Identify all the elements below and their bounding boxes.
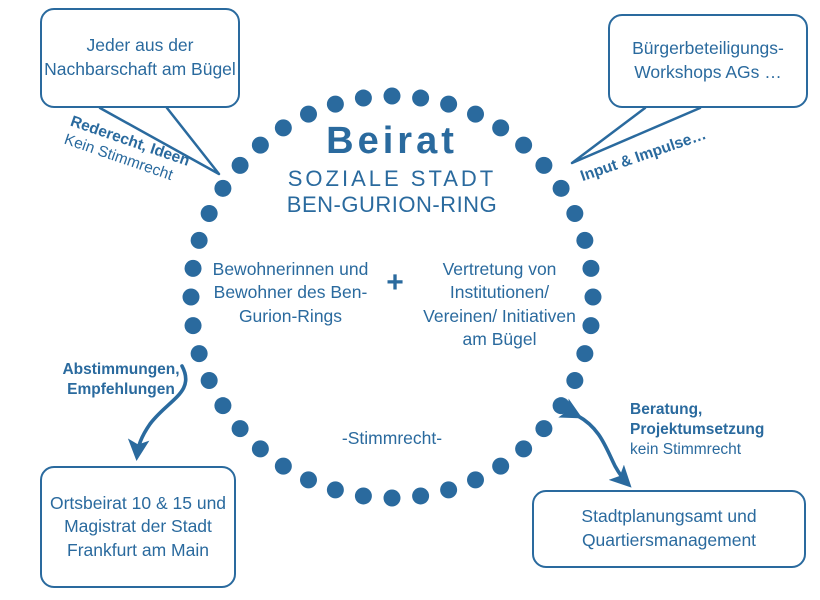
label-abstimmungen-line1: Abstimmungen, xyxy=(46,360,196,380)
ring-dot xyxy=(355,487,372,504)
ring-dot xyxy=(585,289,602,306)
ring-dot xyxy=(535,420,552,437)
ring-dot xyxy=(412,90,429,107)
ring-dot xyxy=(440,96,457,113)
membership-columns: Bewohnerinnen und Bewohner des Ben-Gurio… xyxy=(205,258,585,351)
ring-dot xyxy=(183,289,200,306)
ring-dot xyxy=(232,420,249,437)
ring-dot xyxy=(327,481,344,498)
arrow-beratung xyxy=(578,416,628,484)
ring-dot xyxy=(492,458,509,475)
label-beratung-line3: kein Stimmrecht xyxy=(630,440,820,460)
ring-dot xyxy=(191,232,208,249)
diagram-canvas: Beirat SOZIALE STADT BEN-GURION-RING Bew… xyxy=(0,0,820,600)
ring-dot xyxy=(214,397,231,414)
box-ortsbeirat: Ortsbeirat 10 & 15 und Magistrat der Sta… xyxy=(40,466,236,588)
members-residents: Bewohnerinnen und Bewohner des Ben-Gurio… xyxy=(208,258,373,328)
members-institutions: Vertretung von Institutionen/ Vereinen/ … xyxy=(417,258,582,351)
bubble-neighbourhood: Jeder aus der Nachbarschaft am Bügel xyxy=(40,8,240,108)
ring-dot xyxy=(185,260,202,277)
ring-dot xyxy=(515,440,532,457)
voting-rights-note: -Stimmrecht- xyxy=(272,428,512,449)
label-rederecht-group: Rederecht, Ideen Kein Stimmrecht xyxy=(61,112,192,189)
label-impulse-strong: Input & Impulse… xyxy=(578,125,709,186)
ring-dot xyxy=(566,372,583,389)
ring-dot xyxy=(384,88,401,105)
label-impulse-group: Input & Impulse… xyxy=(578,125,709,186)
ring-dot xyxy=(300,471,317,488)
ring-dot xyxy=(384,490,401,507)
bubble-participation: Bürgerbeteiligungs- Workshops AGs … xyxy=(608,14,808,108)
ring-dot xyxy=(185,317,202,334)
ring-dot xyxy=(300,106,317,123)
ring-dot xyxy=(327,96,344,113)
plus-icon: + xyxy=(373,258,417,298)
label-beratung-group: Beratung, Projektumsetzung kein Stimmrec… xyxy=(630,400,820,460)
ring-dot xyxy=(440,481,457,498)
ring-dot xyxy=(582,317,599,334)
label-beratung-line2: Projektumsetzung xyxy=(630,420,820,440)
page-subtitle-location: BEN-GURION-RING xyxy=(192,194,592,216)
ring-dot xyxy=(467,106,484,123)
ring-dot xyxy=(582,260,599,277)
center-title-group: Beirat SOZIALE STADT BEN-GURION-RING xyxy=(192,122,592,216)
ring-dot xyxy=(355,90,372,107)
ring-dot xyxy=(412,487,429,504)
ring-dot xyxy=(467,471,484,488)
label-abstimmungen-line2: Empfehlungen xyxy=(46,380,196,400)
page-title: Beirat xyxy=(192,122,592,160)
ring-dot xyxy=(252,440,269,457)
page-subtitle-program: SOZIALE STADT xyxy=(192,168,592,190)
label-beratung-line1: Beratung, xyxy=(630,400,820,420)
ring-dot xyxy=(201,372,218,389)
box-stadtplanung: Stadtplanungsamt und Quartiersmanagement xyxy=(532,490,806,568)
ring-dot xyxy=(275,458,292,475)
ring-dot xyxy=(576,232,593,249)
ring-dot xyxy=(553,397,570,414)
label-abstimmungen-group: Abstimmungen, Empfehlungen xyxy=(46,360,196,400)
